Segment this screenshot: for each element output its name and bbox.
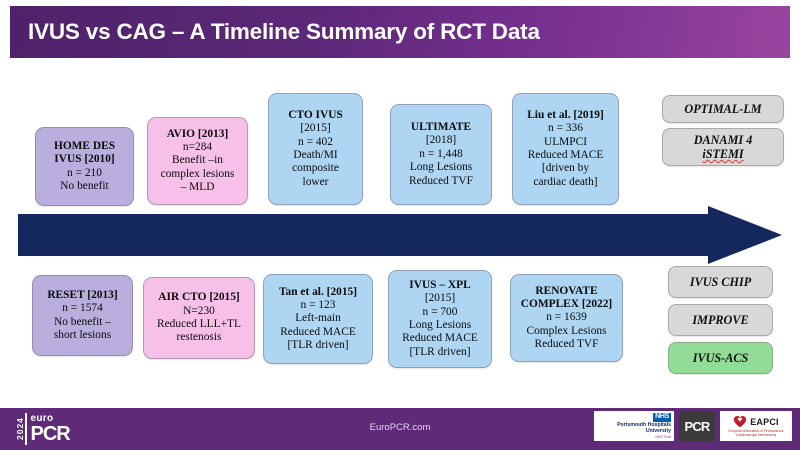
study-line: Long Lesions — [393, 319, 487, 332]
upcoming-label-secondary: iSTEMI — [702, 147, 743, 161]
study-line: n = 1574 — [37, 302, 128, 315]
study-line: IVUS – XPL — [393, 279, 487, 292]
study-line: Benefit –in — [152, 154, 243, 167]
study-box-ultimate[interactable]: ULTIMATE [2018] n = 1,448 Long Lesions R… — [390, 104, 492, 205]
study-box-renovate-complex[interactable]: RENOVATE COMPLEX [2022] n = 1639 Complex… — [510, 274, 623, 362]
study-box-cto-ivus[interactable]: CTO IVUS [2015] n = 402 Death/MI composi… — [268, 93, 363, 205]
study-line: Complex Lesions — [515, 325, 618, 338]
study-line: Reduced MACE — [268, 326, 368, 339]
study-box-home-des-ivus[interactable]: HOME DES IVUS [2010] n = 210 No benefit — [35, 127, 134, 206]
study-line: n=284 — [152, 141, 243, 154]
eapci-subtitle: European Association of Percutaneous Car… — [722, 429, 790, 437]
study-line: AIR CTO [2015] — [148, 291, 250, 304]
study-line: cardiac death] — [517, 176, 614, 189]
study-line: n = 1,448 — [395, 148, 487, 161]
study-line: n = 402 — [273, 136, 358, 149]
study-box-reset[interactable]: RESET [2013] n = 1574 No benefit – short… — [32, 275, 133, 356]
partner-logos: NHS Portsmouth Hospitals University NHS … — [594, 411, 792, 441]
heart-icon — [733, 415, 747, 428]
study-line: n = 700 — [393, 306, 487, 319]
eapci-logo: EAPCI European Association of Percutaneo… — [720, 411, 792, 441]
nhs-badge: NHS — [653, 413, 671, 422]
study-line: Reduced TVF — [515, 338, 618, 351]
slide-header: IVUS vs CAG – A Timeline Summary of RCT … — [10, 6, 790, 58]
study-line: CTO IVUS — [273, 109, 358, 122]
study-line: RESET [2013] — [37, 289, 128, 302]
upcoming-box-optimal-lm[interactable]: OPTIMAL-LM — [662, 95, 784, 123]
study-line: n = 210 — [40, 167, 129, 180]
study-line: [TLR driven] — [268, 339, 368, 352]
study-line: n = 336 — [517, 122, 614, 135]
upcoming-box-ivus-chip[interactable]: IVUS CHIP — [668, 266, 773, 298]
study-line: COMPLEX [2022] — [515, 298, 618, 311]
study-line: [TLR driven] — [393, 346, 487, 359]
study-line: [2018] — [395, 134, 487, 147]
study-line: IVUS [2010] — [40, 153, 129, 166]
study-box-avio[interactable]: AVIO [2013] n=284 Benefit –in complex le… — [147, 117, 248, 205]
study-line: AVIO [2013] — [152, 128, 243, 141]
study-line: Liu et al. [2019] — [517, 109, 614, 122]
study-line: Reduced MACE — [393, 332, 487, 345]
page-title: IVUS vs CAG – A Timeline Summary of RCT … — [28, 19, 540, 45]
study-line: HOME DES — [40, 140, 129, 153]
study-line: restenosis — [148, 331, 250, 344]
study-line: Tan et al. [2015] — [268, 286, 368, 299]
study-line: N=230 — [148, 305, 250, 318]
upcoming-label: DANAMI 4 — [694, 133, 753, 147]
nhs-portsmouth-logo: NHS Portsmouth Hospitals University NHS … — [594, 411, 674, 441]
study-line: ULTIMATE — [395, 121, 487, 134]
timeline-arrow — [18, 206, 782, 264]
study-line: No benefit — [40, 180, 129, 193]
study-line: complex lesions — [152, 168, 243, 181]
study-line: [2015] — [273, 122, 358, 135]
pcr-logo: PCR — [679, 411, 715, 441]
pcr-logo-text: PCR — [684, 419, 709, 434]
study-box-tan-et-al[interactable]: Tan et al. [2015] n = 123 Left-main Redu… — [263, 274, 373, 364]
upcoming-box-danami-4-istemi[interactable]: DANAMI 4 iSTEMI — [662, 128, 784, 166]
study-box-ivus-xpl[interactable]: IVUS – XPL [2015] n = 700 Long Lesions R… — [388, 270, 492, 368]
nhs-trust-sub: NHS Trust — [597, 435, 671, 439]
study-line: RENOVATE — [515, 285, 618, 298]
eapci-text: EAPCI — [750, 417, 779, 427]
study-line: [2015] — [393, 292, 487, 305]
study-line: composite — [273, 162, 358, 175]
study-line: Death/MI — [273, 149, 358, 162]
upcoming-label: IVUS CHIP — [690, 275, 751, 289]
study-line: No benefit – — [37, 316, 128, 329]
study-line: Long Lesions — [395, 161, 487, 174]
study-box-liu-et-al[interactable]: Liu et al. [2019] n = 336 ULMPCI Reduced… — [512, 93, 619, 205]
upcoming-box-improve[interactable]: IMPROVE — [668, 304, 773, 336]
study-line: lower — [273, 176, 358, 189]
study-line: Reduced TVF — [395, 175, 487, 188]
study-line: – MLD — [152, 181, 243, 194]
upcoming-box-ivus-acs[interactable]: IVUS-ACS — [668, 342, 773, 374]
study-line: n = 123 — [268, 299, 368, 312]
upcoming-label: OPTIMAL-LM — [684, 102, 761, 116]
study-line: n = 1639 — [515, 311, 618, 324]
study-line: ULMPCI — [517, 136, 614, 149]
upcoming-label: IVUS-ACS — [693, 351, 749, 365]
study-box-air-cto[interactable]: AIR CTO [2015] N=230 Reduced LLL+TL rest… — [143, 277, 255, 359]
study-line: [driven by — [517, 162, 614, 175]
study-line: Left-main — [268, 312, 368, 325]
study-line: Reduced LLL+TL — [148, 318, 250, 331]
study-line: short lesions — [37, 329, 128, 342]
upcoming-label: IMPROVE — [692, 313, 748, 327]
study-line: Reduced MACE — [517, 149, 614, 162]
